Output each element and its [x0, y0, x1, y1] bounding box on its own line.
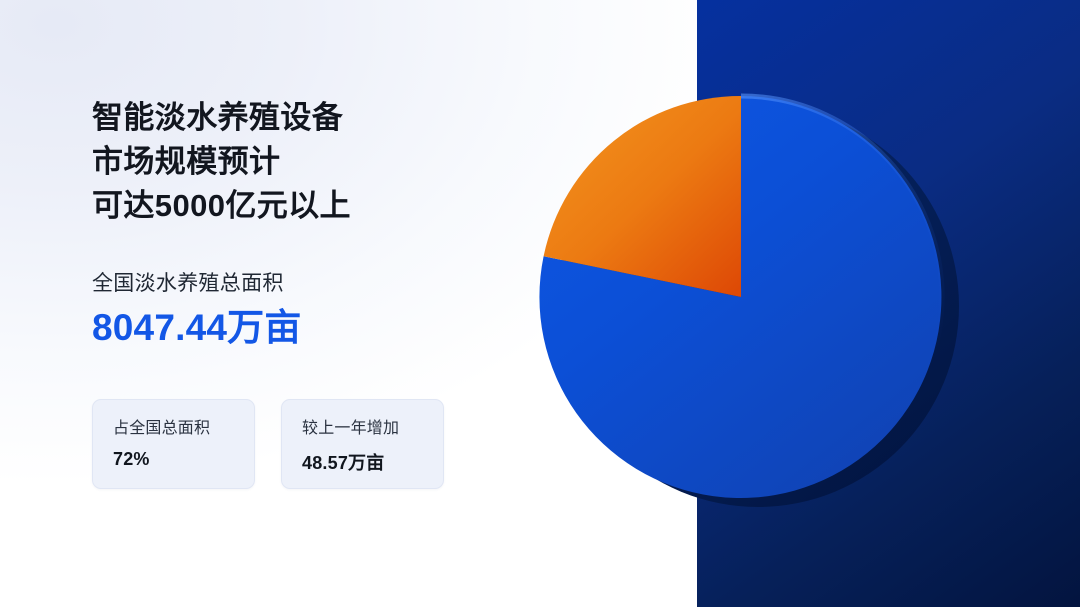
left-content-column: 智能淡水养殖设备 市场规模预计 可达5000亿元以上 全国淡水养殖总面积 804…	[92, 96, 522, 352]
stat-card-title: 占全国总面积	[113, 418, 236, 440]
stat-card-group: 占全国总面积 72% 较上一年增加 48.57万亩	[92, 399, 444, 489]
stat-card-value: 48.57万亩	[302, 449, 425, 475]
stat-card: 较上一年增加 48.57万亩	[281, 399, 444, 489]
stat-card-value: 72%	[113, 449, 236, 470]
stat-card: 占全国总面积 72%	[92, 399, 255, 489]
infographic-slide: 智能淡水养殖设备 市场规模预计 可达5000亿元以上 全国淡水养殖总面积 804…	[0, 0, 1080, 607]
stat-card-title: 较上一年增加	[302, 418, 425, 440]
stat-value-highlight: 8047.44万亩	[92, 305, 522, 351]
pie-chart: 28% 海水养殖 72% 淡水养殖	[510, 60, 1010, 540]
pie-chart-svg	[510, 60, 1010, 540]
page-title: 智能淡水养殖设备 市场规模预计 可达5000亿元以上	[92, 96, 522, 228]
stat-label: 全国淡水养殖总面积	[92, 270, 522, 297]
